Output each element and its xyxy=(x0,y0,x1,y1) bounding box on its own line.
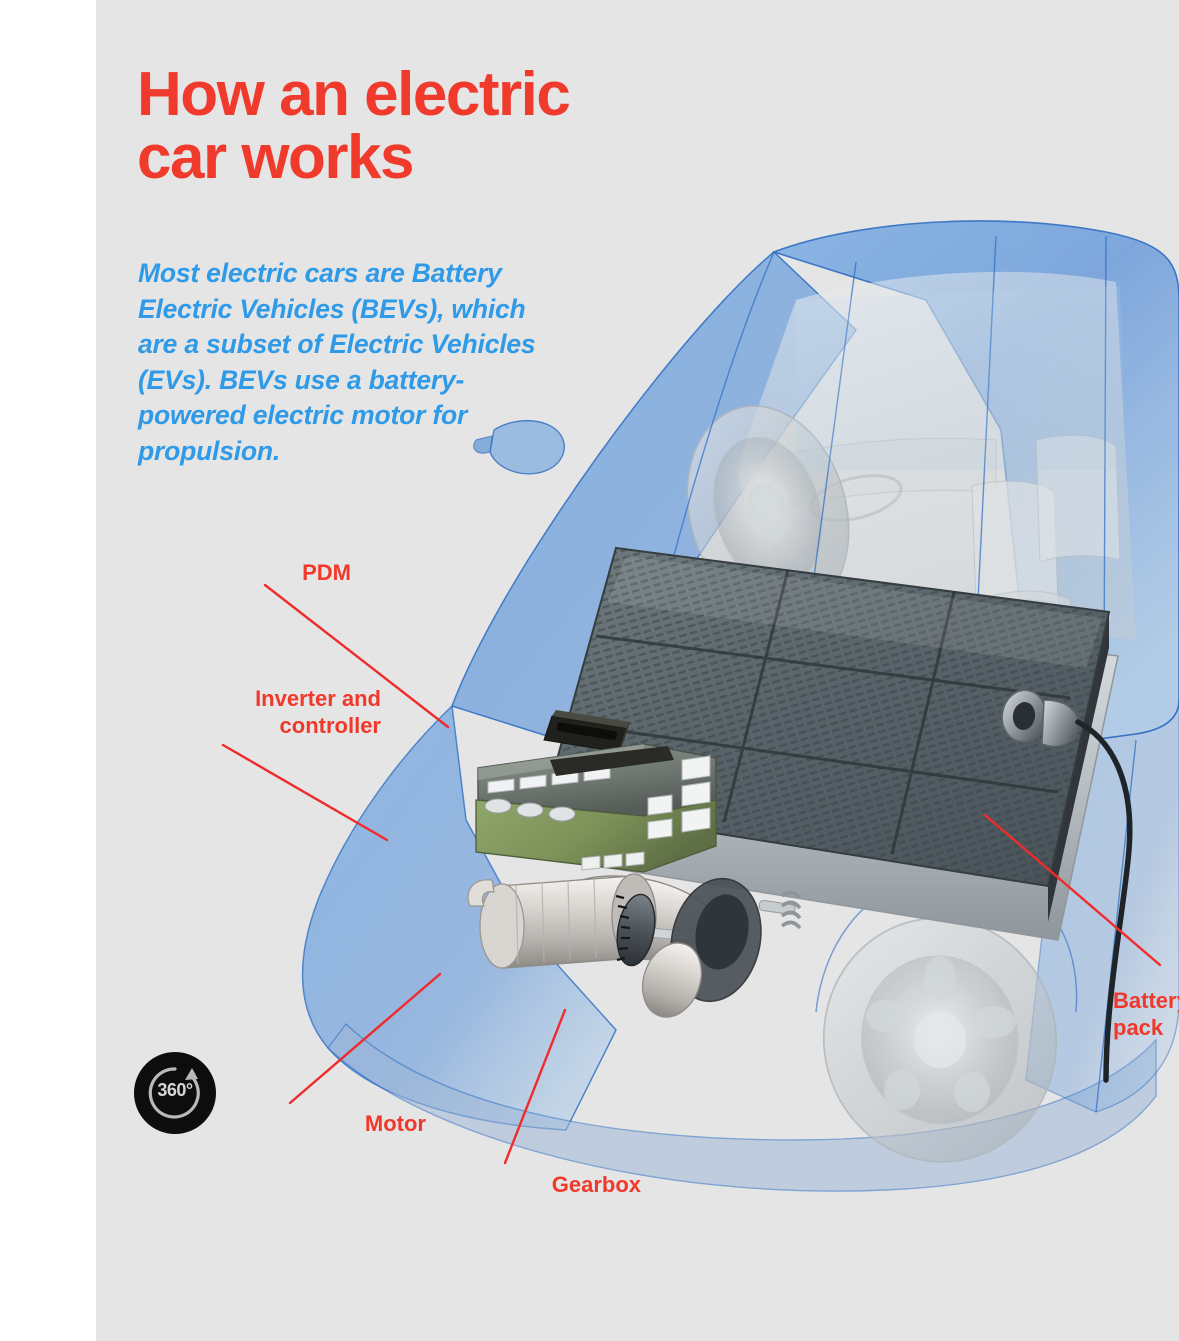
inverter-controller-board xyxy=(476,744,716,872)
cutaway-electric-car-illustration xyxy=(96,0,1179,1341)
infographic-canvas: How an electric car works Most electric … xyxy=(96,0,1179,1341)
title-line-1: How an electric xyxy=(137,63,737,126)
callout-label-inverter: Inverter and controller xyxy=(116,686,381,740)
intro-paragraph: Most electric cars are Battery Electric … xyxy=(138,256,538,469)
callout-label-pdm: PDM xyxy=(201,560,351,587)
rotate-360-label: 360° xyxy=(134,1080,216,1101)
callout-label-battery: Battery pack xyxy=(1113,988,1179,1042)
page-title: How an electric car works xyxy=(137,63,737,189)
rotate-360-badge[interactable]: 360° xyxy=(134,1052,216,1134)
side-glass xyxy=(796,286,1126,470)
callout-label-gearbox: Gearbox xyxy=(406,1172,641,1199)
callout-label-motor: Motor xyxy=(241,1111,426,1138)
leader-line-inverter xyxy=(223,745,387,840)
title-line-2: car works xyxy=(137,126,737,189)
infographic-root: How an electric car works Most electric … xyxy=(0,0,1179,1341)
